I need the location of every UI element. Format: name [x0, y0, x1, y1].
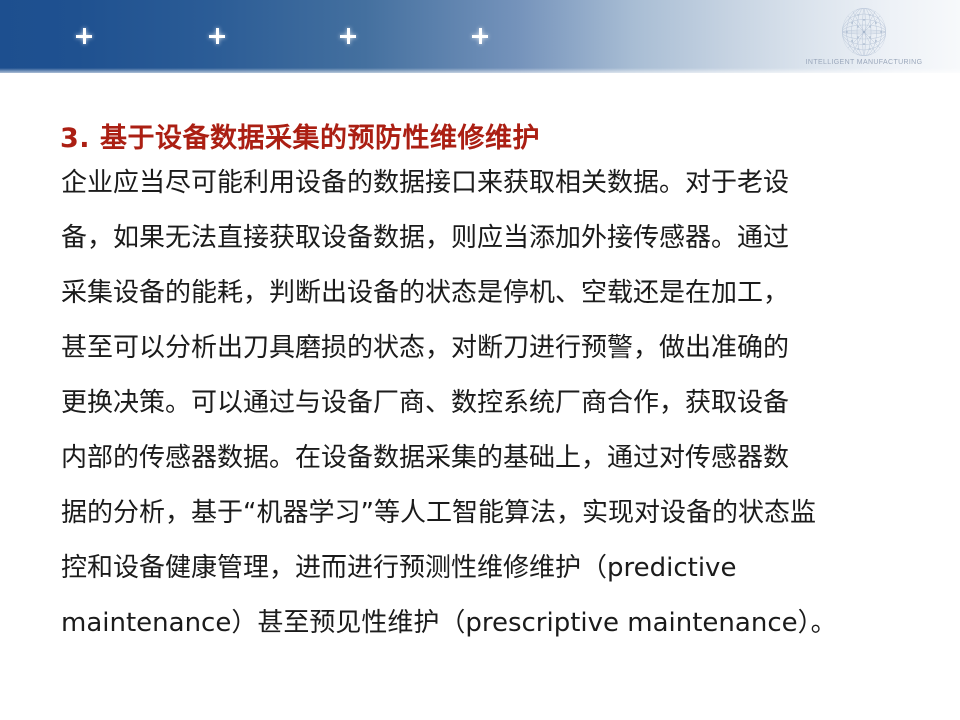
body-paragraph: 企业应当尽可能利用设备的数据接口来获取相关数据。对于老设 备，如果无法直接获取设…	[61, 156, 907, 651]
wireframe-sphere-icon	[838, 6, 890, 58]
plus-icon	[73, 25, 95, 47]
body-line: 内部的传感器数据。在设备数据采集的基础上，通过对传感器数	[61, 431, 907, 486]
body-line: 控和设备健康管理，进而进行预测性维修维护（predictive	[61, 541, 907, 596]
slide-canvas: INTELLIGENT MANUFACTURING 3. 基于设备数据采集的预防…	[0, 0, 960, 720]
brand-logo-text: INTELLIGENT MANUFACTURING	[804, 59, 924, 66]
body-line: 备，如果无法直接获取设备数据，则应当添加外接传感器。通过	[61, 211, 907, 266]
body-line: 采集设备的能耗，判断出设备的状态是停机、空载还是在加工，	[61, 266, 907, 321]
body-line: 甚至可以分析出刀具磨损的状态，对断刀进行预警，做出准确的	[61, 321, 907, 376]
body-line: 据的分析，基于“机器学习”等人工智能算法，实现对设备的状态监	[61, 486, 907, 541]
plus-icon	[337, 25, 359, 47]
body-line: 更换决策。可以通过与设备厂商、数控系统厂商合作，获取设备	[61, 376, 907, 431]
plus-icon	[206, 25, 228, 47]
brand-logo: INTELLIGENT MANUFACTURING	[804, 6, 924, 66]
page-title: 3. 基于设备数据采集的预防性维修维护	[60, 116, 540, 155]
body-line: maintenance）甚至预见性维护（prescriptive mainten…	[61, 596, 907, 651]
body-line: 企业应当尽可能利用设备的数据接口来获取相关数据。对于老设	[61, 156, 907, 211]
plus-icon	[469, 25, 491, 47]
